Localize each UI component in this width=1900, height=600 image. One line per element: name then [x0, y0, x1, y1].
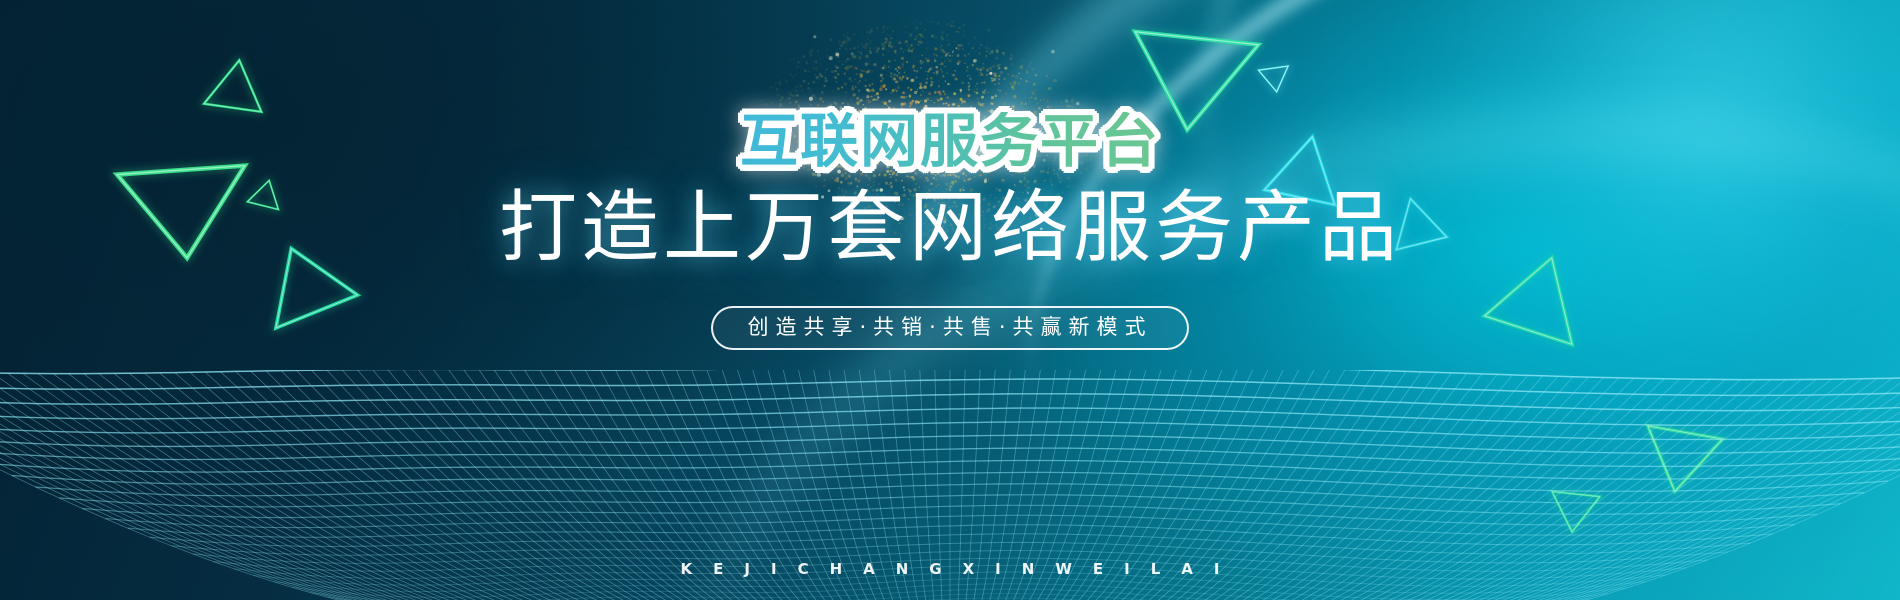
page-subtitle: 打造上万套网络服务产品 — [499, 186, 1401, 272]
triangle-outline-tiny-top-right — [1256, 64, 1294, 96]
triangle-outline-lowest-right — [1546, 489, 1602, 536]
tagline-pill: 创造共享·共销·共售·共赢新模式 — [711, 306, 1188, 350]
triangle-outline-large-top-right — [1123, 30, 1260, 139]
gold-particle-cloud — [700, 0, 1120, 290]
corner-glow — [1400, 0, 1900, 360]
triangle-outline-mid-right — [1262, 127, 1350, 207]
triangle-outline-lower-right — [1635, 424, 1725, 501]
triangle-outline-mid-left — [248, 229, 360, 330]
page-title: 互联网服务平台 — [740, 112, 1160, 170]
triangle-outline-tiny-left — [245, 174, 287, 212]
triangle-outline-large-left — [115, 164, 253, 265]
tagline-text: 创造共享·共销·共售·共赢新模式 — [747, 317, 1152, 338]
triangle-outline-small-top-left — [202, 54, 271, 114]
hero-banner: 互联网服务平台 打造上万套网络服务产品 创造共享·共销·共售·共赢新模式 KEJ… — [0, 0, 1900, 600]
pinyin-footer: KEJICHANGXINWEILAI — [0, 560, 1900, 578]
